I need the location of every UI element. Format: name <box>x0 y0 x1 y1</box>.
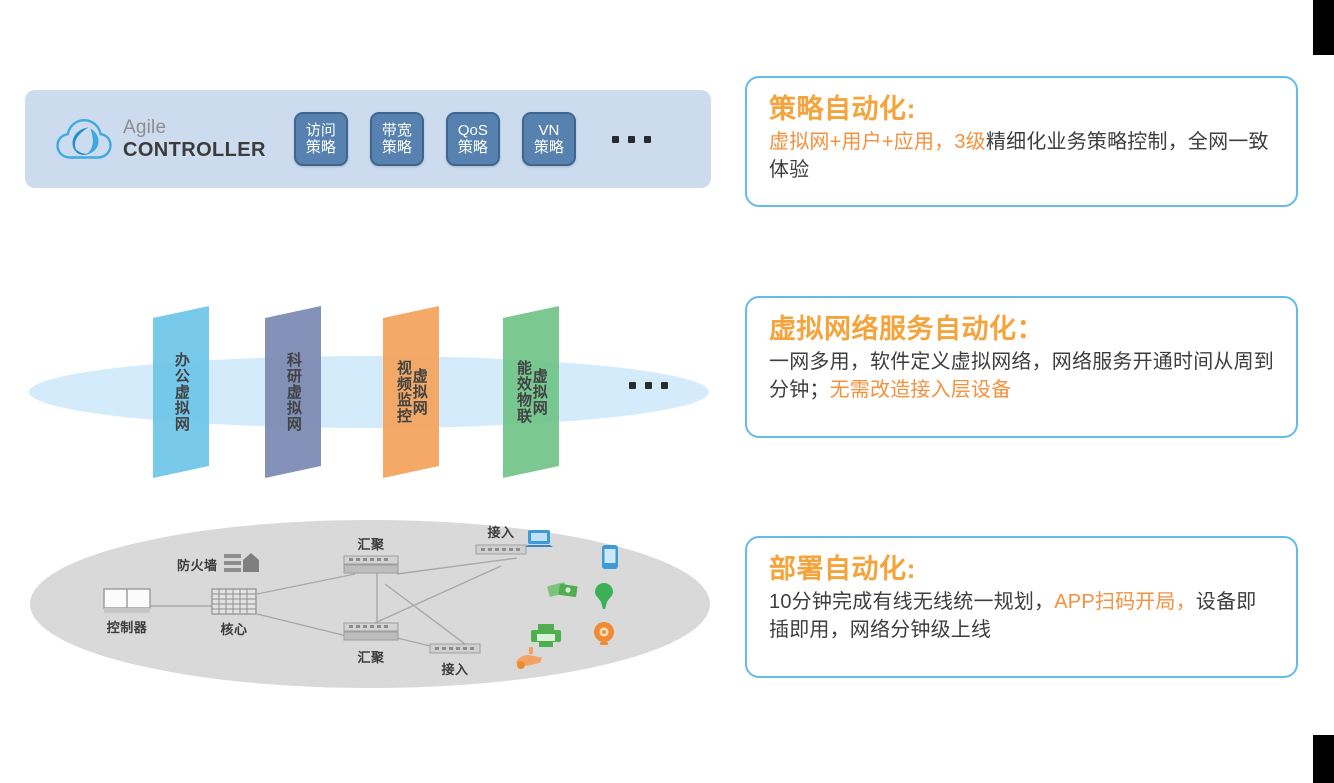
virtual-network-plane-label-group: 虚拟网 视频监控 <box>395 312 427 472</box>
feature-card-body-highlight: 无需改造接入层设备 <box>830 379 1012 401</box>
policy-chip-list: 访问 策略 带宽 策略 QoS 策略 VN 策略 <box>294 112 651 166</box>
virtual-network-plane-video-surveillance[interactable]: 虚拟网 视频监控 <box>383 312 439 472</box>
feature-card-body-highlight: APP扫码开局， <box>1054 591 1196 613</box>
endpoint-webcam[interactable] <box>590 620 618 653</box>
policy-chip-line2: 策略 <box>458 139 488 156</box>
virtual-network-plane-label-group: 虚拟网 能效物联 <box>515 312 547 472</box>
virtual-network-plane-research[interactable]: 科研虚拟网 <box>265 312 321 472</box>
endpoint-bulb[interactable] <box>594 582 614 615</box>
feature-card-body: 虚拟网+用户+应用，3级精细化业务策略控制，全网一致体验 <box>769 129 1274 184</box>
virtual-network-plane-label-front: 虚拟网 <box>411 368 427 416</box>
virtual-network-scene: 办公虚拟网 科研虚拟网 虚拟网 视频监控 虚拟网 能效物联 <box>25 300 711 495</box>
light-bulb-icon <box>594 582 614 610</box>
link-core-agg-bottom <box>257 614 355 638</box>
virtual-network-plane-label: 办公虚拟网 <box>173 352 189 432</box>
corner-bar-bottom <box>1313 735 1334 783</box>
link-core-agg-top <box>257 574 355 594</box>
network-node-label: 控制器 <box>107 617 148 636</box>
endpoint-banknotes[interactable] <box>546 578 580 607</box>
laptop-icon <box>524 528 554 552</box>
feature-card-body: 10分钟完成有线无线统一规划，APP扫码开局，设备即插即用，网络分钟级上线 <box>769 589 1274 644</box>
policy-chip-line2: 策略 <box>382 139 412 156</box>
dot <box>629 382 636 389</box>
slide-canvas: Agile CONTROLLER 访问 策略 带宽 策略 QoS 策略 <box>0 0 1334 783</box>
virtual-network-plane-energy-iot[interactable]: 虚拟网 能效物联 <box>503 312 559 472</box>
smartphone-icon <box>601 544 619 570</box>
network-node-core[interactable]: 核心 <box>211 588 257 638</box>
feature-card-body-highlight: 虚拟网+用户+应用，3级 <box>769 131 986 153</box>
network-topology-scene: 控制器 防火墙 <box>25 518 711 690</box>
policy-chip-line2: 策略 <box>306 139 336 156</box>
server-box-icon <box>103 588 151 614</box>
network-node-controller[interactable]: 控制器 <box>103 588 151 636</box>
virtual-network-plane-label-front: 虚拟网 <box>531 368 547 416</box>
policy-chip-qos[interactable]: QoS 策略 <box>446 112 500 166</box>
feature-card-body-text: 10分钟完成有线无线统一规划， <box>769 591 1054 613</box>
feature-card-virtual-network-automation: 虚拟网络服务自动化： 一网多用，软件定义虚拟网络，网络服务开通时间从周到分钟；无… <box>745 296 1298 438</box>
network-node-label: 接入 <box>441 659 468 678</box>
endpoint-laptop[interactable] <box>524 528 554 557</box>
dot <box>661 382 668 389</box>
switch-icon <box>343 555 399 577</box>
network-node-label: 防火墙 <box>177 555 218 574</box>
dot <box>644 136 651 143</box>
policy-chip-line1: 带宽 <box>382 122 412 139</box>
policy-chip-bandwidth[interactable]: 带宽 策略 <box>370 112 424 166</box>
network-node-label: 汇聚 <box>357 534 384 553</box>
endpoint-phone[interactable] <box>601 544 619 575</box>
access-switch-icon <box>429 642 481 656</box>
logo-wordmark: Agile CONTROLLER <box>123 118 266 160</box>
policy-overflow-ellipsis-icon[interactable] <box>612 136 651 143</box>
feature-card-body: 一网多用，软件定义虚拟网络，网络服务开通时间从周到分钟；无需改造接入层设备 <box>769 349 1274 404</box>
network-node-label: 核心 <box>220 619 247 638</box>
cloud-swirl-icon <box>55 116 113 162</box>
policy-chip-line1: VN <box>538 122 559 139</box>
policy-chip-access[interactable]: 访问 策略 <box>294 112 348 166</box>
feature-card-title: 虚拟网络服务自动化： <box>769 314 1274 345</box>
network-node-access-bottom[interactable]: 接入 <box>429 642 481 678</box>
virtual-network-plane-label: 科研虚拟网 <box>285 352 301 432</box>
feature-card-deployment-automation: 部署自动化: 10分钟完成有线无线统一规划，APP扫码开局，设备即插即用，网络分… <box>745 536 1298 678</box>
feature-card-title: 部署自动化: <box>769 554 1274 585</box>
virtual-network-plane-label-back: 视频监控 <box>395 360 411 424</box>
policy-chip-vn[interactable]: VN 策略 <box>522 112 576 166</box>
access-switch-icon <box>475 543 527 557</box>
switch-icon <box>343 622 399 644</box>
endpoint-security-camera[interactable] <box>515 646 547 677</box>
core-switch-icon <box>211 588 257 616</box>
policy-chip-line1: 访问 <box>306 122 336 139</box>
dot <box>645 382 652 389</box>
dot <box>628 136 635 143</box>
webcam-icon <box>590 620 618 648</box>
firewall-icon <box>224 552 260 576</box>
network-node-firewall[interactable]: 防火墙 <box>177 552 260 576</box>
feature-card-policy-automation: 策略自动化: 虚拟网+用户+应用，3级精细化业务策略控制，全网一致体验 <box>745 76 1298 207</box>
virtual-network-plane-office[interactable]: 办公虚拟网 <box>153 312 209 472</box>
policy-chip-line2: 策略 <box>534 139 564 156</box>
network-node-label: 汇聚 <box>357 647 384 666</box>
agile-controller-logo: Agile CONTROLLER <box>55 116 266 162</box>
network-node-access-top[interactable]: 接入 <box>475 522 527 557</box>
virtual-network-overflow-ellipsis-icon[interactable] <box>629 382 668 389</box>
feature-card-title: 策略自动化: <box>769 94 1274 125</box>
dot <box>612 136 619 143</box>
corner-bar-top <box>1313 0 1334 55</box>
logo-controller-text: CONTROLLER <box>123 140 266 160</box>
banknotes-icon <box>546 578 580 602</box>
network-node-label: 接入 <box>487 522 514 541</box>
logo-agile-text: Agile <box>123 118 266 137</box>
virtual-network-backdrop-ellipse <box>29 356 709 428</box>
network-node-aggregation-bottom[interactable]: 汇聚 <box>343 622 399 666</box>
security-camera-icon <box>515 646 547 672</box>
policy-chip-line1: QoS <box>458 122 488 139</box>
virtual-network-plane-label-back: 能效物联 <box>515 360 531 424</box>
network-node-aggregation-top[interactable]: 汇聚 <box>343 534 399 577</box>
agile-controller-bar: Agile CONTROLLER 访问 策略 带宽 策略 QoS 策略 <box>25 90 711 188</box>
link-agg-top-access-top <box>397 558 517 574</box>
